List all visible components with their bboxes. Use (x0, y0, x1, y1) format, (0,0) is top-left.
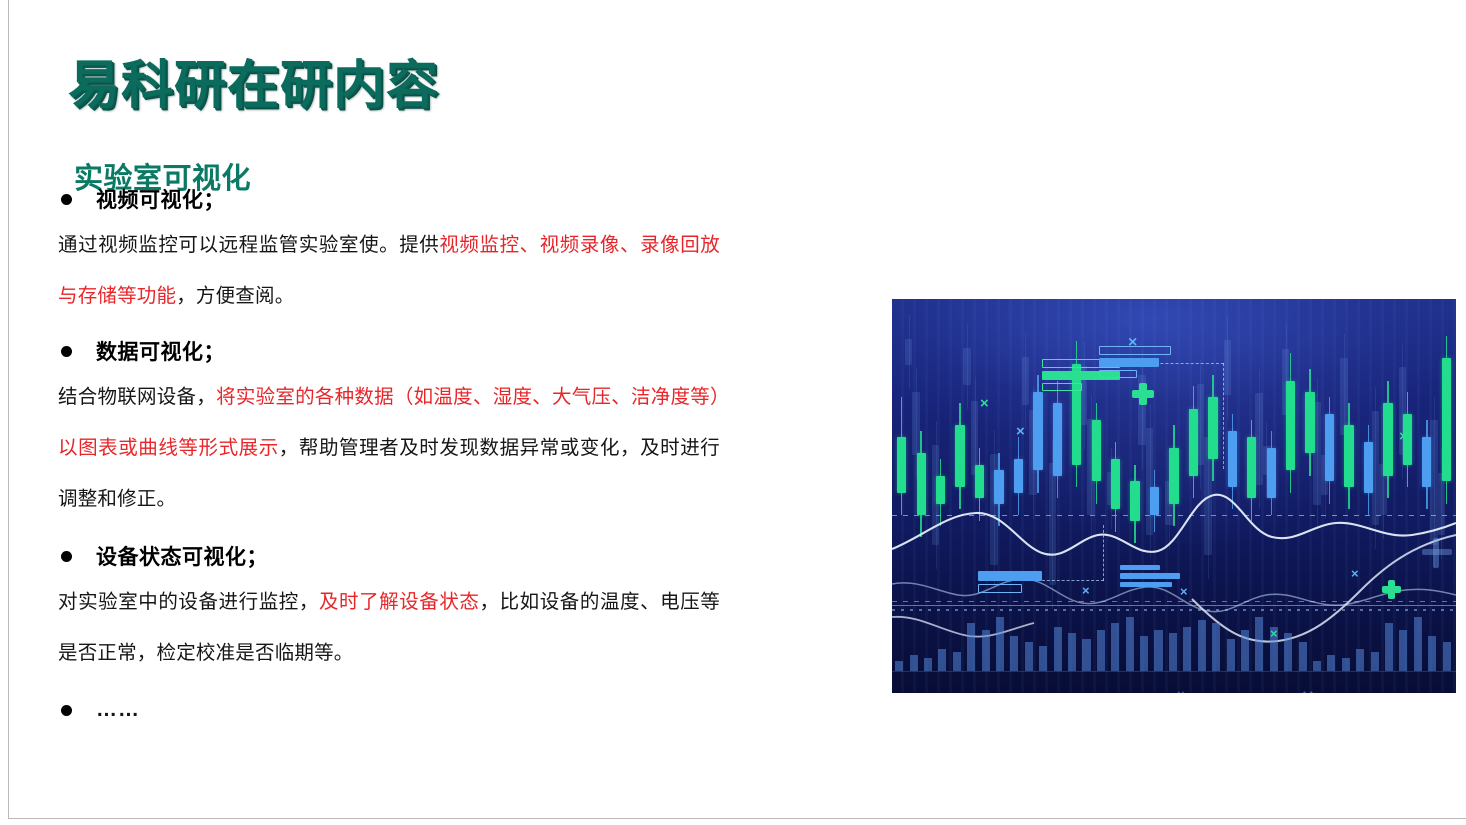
bullet-label: 设备状态可视化； (96, 541, 268, 571)
callout-connector-h (1042, 580, 1104, 581)
candle-body (917, 453, 926, 515)
text-run: 对实验室中的设备进行监控， (58, 591, 319, 613)
callout-bar-filled (1120, 582, 1172, 587)
candle-body (1169, 448, 1178, 504)
candle-body (1247, 437, 1256, 499)
marker-x-icon: × (1270, 627, 1278, 640)
volume-bar (1025, 642, 1033, 671)
marker-x-icon: × (980, 396, 989, 411)
volume-bar (1414, 617, 1422, 671)
bullet-heading-data: 数据可视化； (58, 334, 738, 368)
volume-bar (1068, 633, 1076, 671)
chart-callout-bottom-right (1120, 565, 1180, 590)
ghost-wick (1375, 387, 1376, 549)
marker-x-icon: × (1399, 429, 1408, 444)
callout-bar-outline-small (1042, 383, 1082, 391)
chart-axis-ticks (892, 609, 1456, 611)
candle-body (1344, 425, 1353, 487)
chart-callout-top-right (1099, 346, 1171, 381)
candle-body (897, 437, 906, 493)
ghost-wick (1227, 316, 1228, 419)
candle-body (1267, 448, 1276, 498)
volume-bar (910, 655, 918, 671)
paragraph-device: 对实验室中的设备进行监控，及时了解设备状态，比如设备的温度、电压等是否正常，检定… (58, 577, 720, 679)
volume-bar (1154, 630, 1162, 671)
volume-bar (1428, 636, 1436, 671)
candle-body (1111, 459, 1120, 509)
candle-body (1228, 431, 1237, 487)
callout-bar-outline-small (1099, 370, 1137, 378)
ghost-wick (994, 430, 995, 589)
candle-body (936, 476, 945, 504)
volume-bar (1255, 617, 1263, 671)
volume-bar (1111, 623, 1119, 671)
volume-bar (895, 661, 903, 671)
volume-bar (1039, 646, 1047, 671)
volume-bar (1212, 623, 1220, 671)
marker-x-icon: × (1302, 687, 1314, 693)
callout-bar-filled (1120, 565, 1160, 570)
paragraph-video: 通过视频监控可以远程监管实验室使。提供视频监控、视频录像、录像回放与存储等功能，… (58, 220, 720, 322)
volume-bar (1342, 658, 1350, 671)
ghost-wick (967, 324, 968, 409)
candle-body (1208, 397, 1217, 459)
bullet-label: 数据可视化； (96, 336, 225, 366)
volume-bar (1140, 636, 1148, 671)
ghost-wick (1200, 360, 1201, 489)
candle-body (994, 470, 1003, 504)
bullet-dot-icon (61, 705, 72, 716)
candle-body (1053, 403, 1062, 476)
candle-body (1442, 358, 1451, 481)
bullet-heading-video: 视频可视化； (58, 182, 738, 216)
volume-bar (1356, 649, 1364, 671)
spacer (58, 324, 738, 334)
volume-bar (1284, 633, 1292, 671)
callout-bar-filled (1099, 358, 1159, 367)
marker-x-icon: × (1128, 335, 1137, 351)
candle-body (1033, 392, 1042, 470)
spacer (58, 681, 738, 693)
volume-bar (938, 649, 946, 671)
volume-bar (1399, 630, 1407, 671)
volume-bar (1169, 633, 1177, 671)
candle-body (1189, 409, 1198, 476)
candle-body (1422, 437, 1431, 487)
volume-bar (1010, 636, 1018, 671)
volume-bar (996, 617, 1004, 671)
marker-plus-icon (1132, 383, 1154, 405)
volume-bar (1299, 642, 1307, 671)
bullet-label-ellipsis: …… (96, 698, 140, 722)
callout-bar-filled (1120, 573, 1180, 579)
candle-body (1364, 442, 1373, 492)
marker-x-icon: × (1351, 567, 1359, 580)
chart-axis-line (892, 605, 1456, 606)
volume-bar (1054, 627, 1062, 671)
candle-body (1325, 414, 1334, 481)
ghost-wick (909, 315, 910, 389)
volume-bar (953, 652, 961, 671)
volume-bar (924, 658, 932, 671)
callout-bar-filled (978, 571, 1042, 581)
marker-plus-icon (1382, 580, 1401, 599)
marker-x-icon: × (1082, 584, 1090, 597)
text-run: 结合物联网设备， (58, 386, 216, 408)
candlestick-chart-image: × × × × × × × × × × (892, 299, 1456, 693)
text-run-highlight: 及时了解设备状态 (319, 591, 480, 613)
volume-bar (1371, 652, 1379, 671)
ghost-wick (1150, 404, 1151, 559)
chart-baseline (892, 671, 1456, 672)
ghost-wick (1025, 333, 1026, 429)
candle-body (1150, 487, 1159, 515)
slide-border-left (8, 0, 9, 819)
chart-callout-bottom-left (978, 571, 1042, 596)
volume-bar (1126, 617, 1134, 671)
ghost-wick (1259, 369, 1260, 509)
price-level-dashed-blue (892, 601, 1456, 602)
ghost-wick (1317, 378, 1318, 529)
bullet-dot-icon (61, 551, 72, 562)
slide-canvas: 易科研在研内容 实验室可视化 视频可视化； 通过视频监控可以远程监管实验室使。提… (0, 0, 1466, 825)
volume-bar (1227, 639, 1235, 671)
candle-body (1305, 392, 1314, 454)
page-title: 易科研在研内容 (68, 57, 439, 117)
candle-body (1014, 459, 1023, 493)
candle-body (1130, 481, 1139, 520)
marker-x-icon: × (1016, 424, 1025, 439)
paragraph-data: 结合物联网设备，将实验室的各种数据（如温度、湿度、大气压、洁净度等）以图表或曲线… (58, 372, 720, 525)
candle-body (1092, 420, 1101, 482)
volume-bar (967, 623, 975, 671)
bullet-label: 视频可视化； (96, 184, 225, 214)
candle-body (1286, 381, 1295, 471)
marker-x-icon: × (1177, 688, 1185, 693)
volume-bar (1327, 655, 1335, 671)
volume-bar (1183, 627, 1191, 671)
bullet-heading-device: 设备状态可视化； (58, 539, 738, 573)
candle-body (975, 465, 984, 499)
volume-bar (1443, 642, 1451, 671)
volume-bar (1241, 630, 1249, 671)
volume-bar (982, 630, 990, 671)
callout-connector-v (1223, 363, 1224, 469)
text-run: 通过视频监控可以远程监管实验室使。提供 (58, 234, 439, 256)
bullet-heading-more: …… (58, 693, 738, 727)
text-run: ，方便查阅。 (176, 285, 294, 307)
marker-x-icon: × (1180, 585, 1188, 598)
volume-bar (1385, 623, 1393, 671)
callout-connector-v (1103, 525, 1104, 581)
callout-bar-outline (978, 584, 1022, 593)
spacer (58, 527, 738, 539)
volume-bar (1097, 630, 1105, 671)
candle-body (1383, 403, 1392, 476)
bullet-dot-icon (61, 194, 72, 205)
volume-bar (1198, 620, 1206, 671)
marker-plus-icon (1422, 538, 1452, 568)
volume-bar (1082, 639, 1090, 671)
bullet-dot-icon (61, 346, 72, 357)
candle-body (955, 425, 964, 487)
content-column: 视频可视化； 通过视频监控可以远程监管实验室使。提供视频监控、视频录像、录像回放… (58, 182, 738, 731)
slide-border-bottom (8, 818, 1466, 819)
volume-bar (1313, 661, 1321, 671)
